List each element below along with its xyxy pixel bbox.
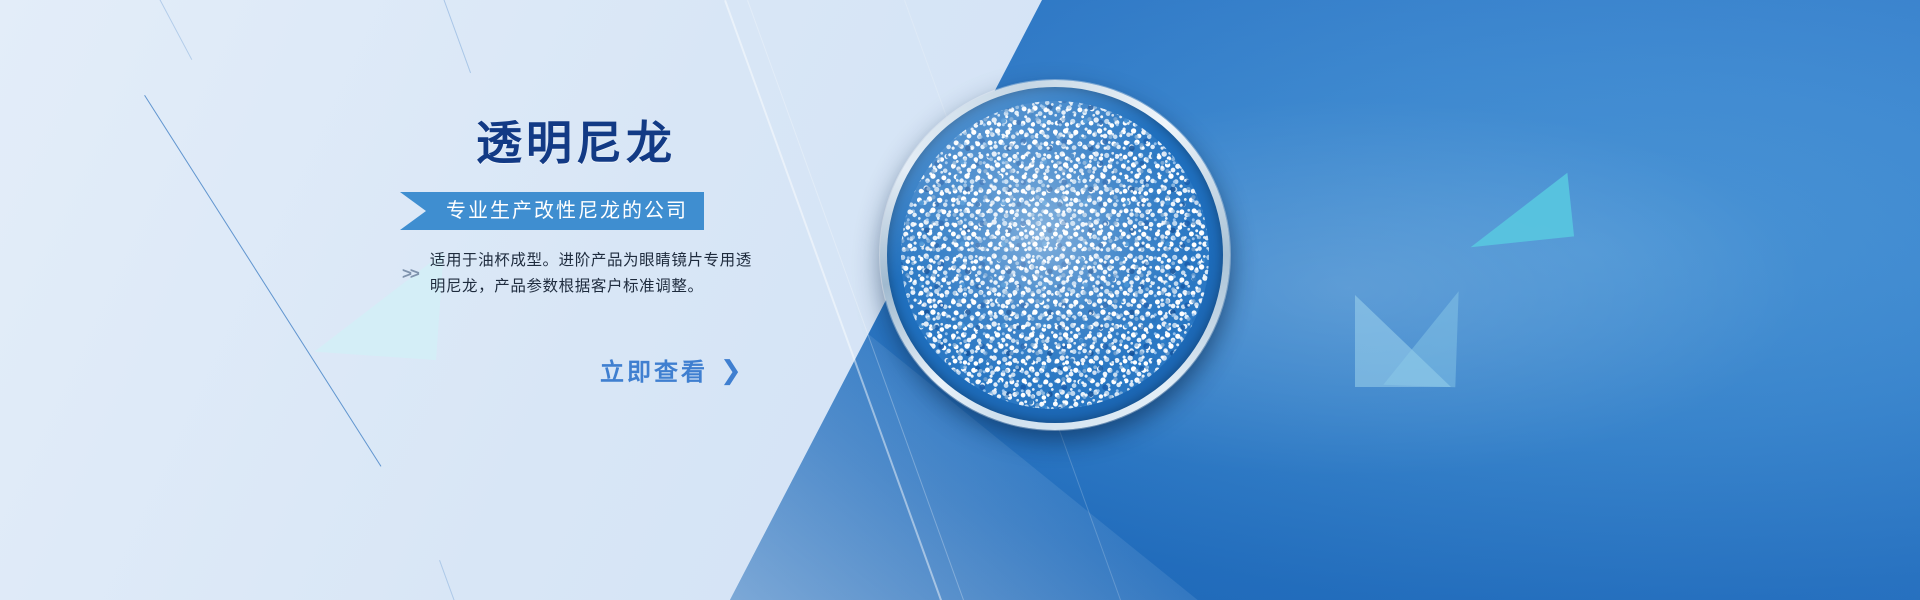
banner-description: 适用于油杯成型。进阶产品为眼睛镜片专用透明尼龙，产品参数根据客户标准调整。 [430,248,760,300]
banner-title: 透明尼龙 [476,120,960,166]
tagline-ribbon: 专业生产改性尼龙的公司 [400,192,704,230]
banner-content: 透明尼龙 专业生产改性尼龙的公司 >> 适用于油杯成型。进阶产品为眼睛镜片专用透… [400,120,960,387]
lower-triangle-icon [1383,289,1458,387]
diagonal-line-decor [149,0,192,60]
cta-label: 立即查看 [600,352,708,387]
diagonal-line-decor [439,560,481,600]
view-now-button[interactable]: 立即查看 ❯ [600,352,745,387]
cyan-triangle-icon [1464,173,1574,248]
description-row: >> 适用于油杯成型。进阶产品为眼睛镜片专用透明尼龙，产品参数根据客户标准调整。 [402,248,960,300]
hero-banner: 透明尼龙 专业生产改性尼龙的公司 >> 适用于油杯成型。进阶产品为眼睛镜片专用透… [0,0,1920,600]
double-chevron-icon: >> [402,264,418,284]
ribbon-wrapper: 专业生产改性尼龙的公司 [400,192,960,230]
diagonal-line-decor [429,0,471,73]
chevron-right-icon: ❯ [720,357,745,383]
